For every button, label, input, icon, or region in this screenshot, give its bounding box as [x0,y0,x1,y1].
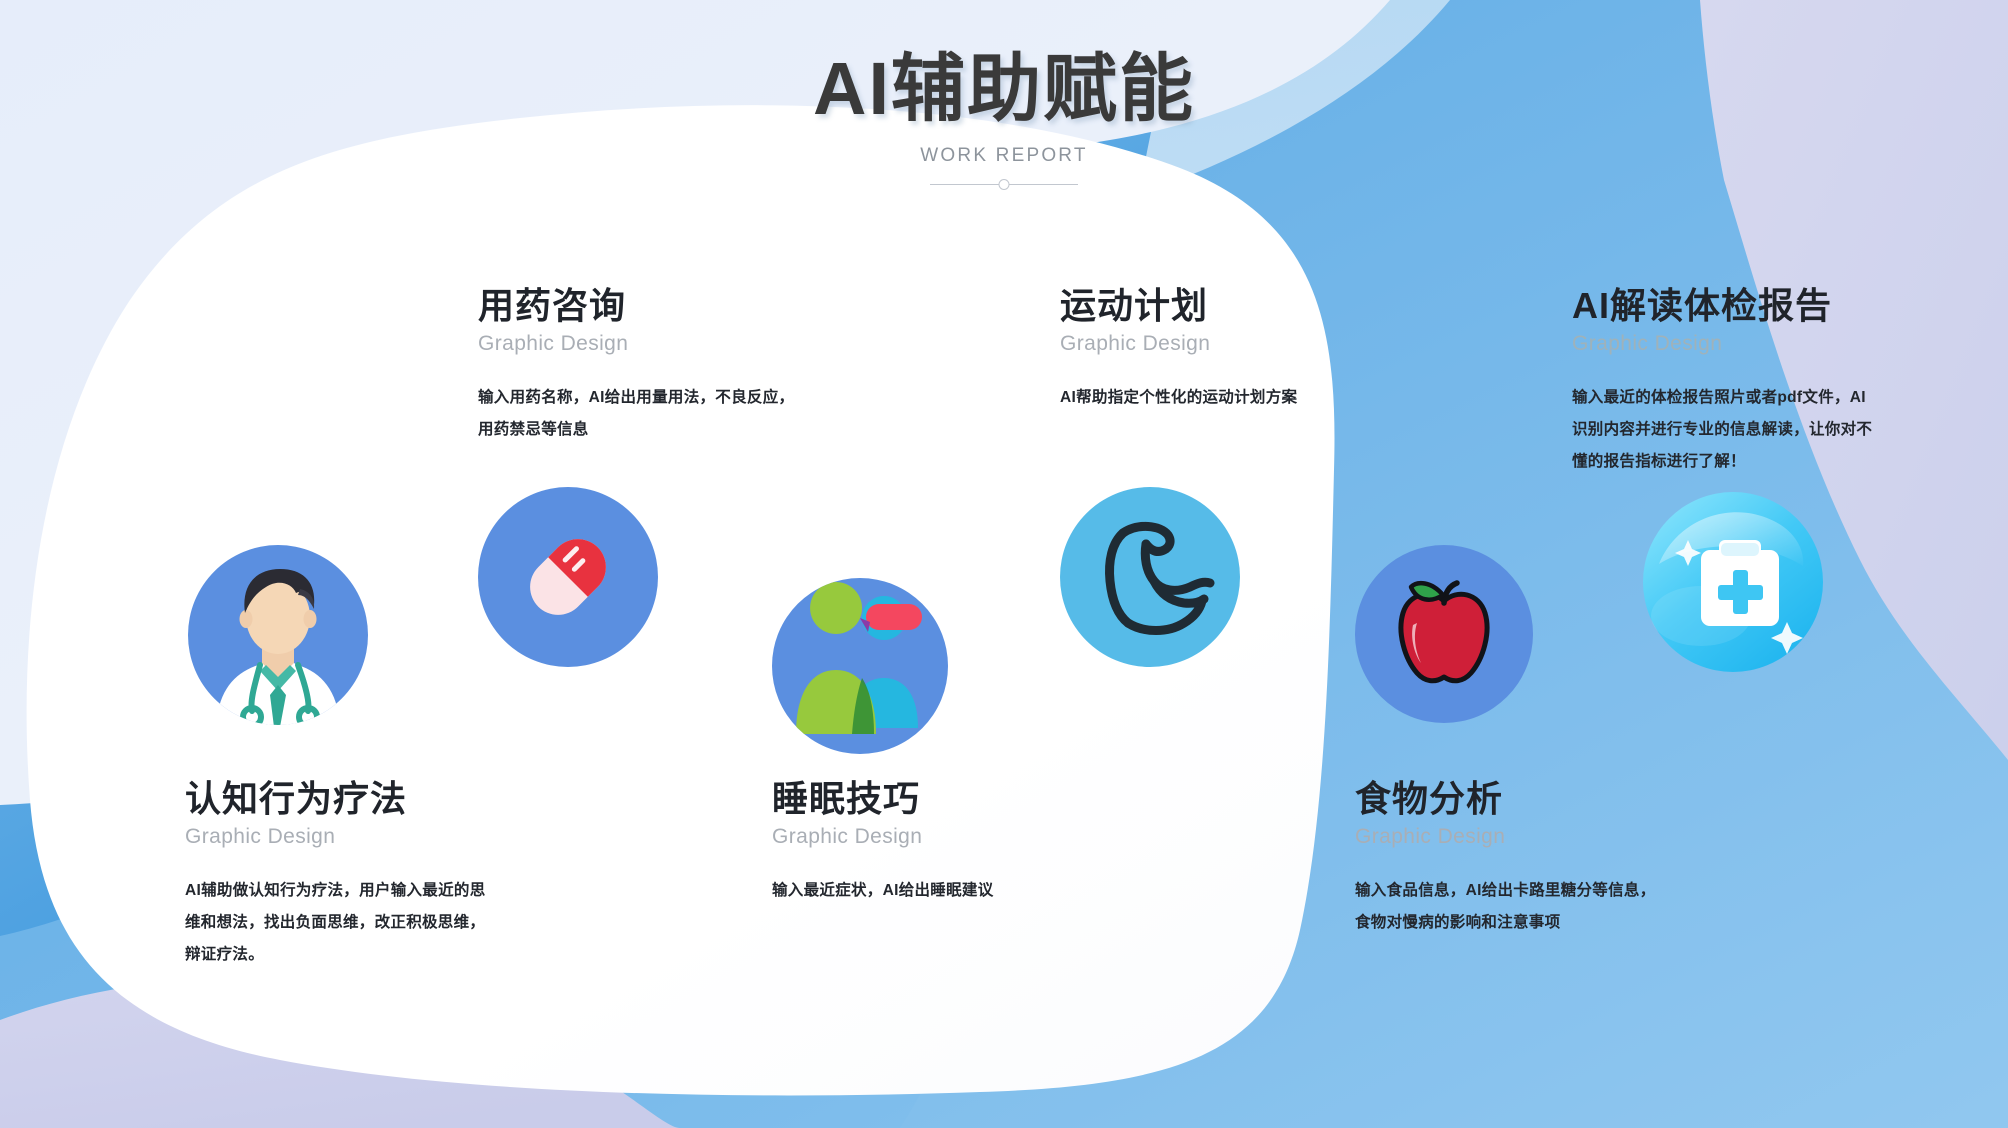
text-block-sleep-tips: 睡眠技巧 Graphic Design 输入最近症状，AI给出睡眠建议 [772,778,1102,907]
pill-icon[interactable] [478,487,658,667]
text-block-ai-health-report: AI解读体检报告 Graphic Design 输入最近的体检报告照片或者pdf… [1572,285,1912,478]
header-divider [930,179,1078,191]
page-title: AI辅助赋能 [0,48,2008,131]
desc-line: AI辅助做认知行为疗法，用户输入最近的思 [185,875,525,907]
slide-content: AI辅助赋能 WORK REPORT 用药咨询 Graphic Design 输… [0,0,2008,1128]
block-title: 睡眠技巧 [772,778,1102,819]
block-description: 输入食品信息，AI给出卡路里糖分等信息， 食物对慢病的影响和注意事项 [1355,875,1695,939]
page-subtitle: WORK REPORT [0,145,2008,167]
desc-line: 输入最近症状，AI给出睡眠建议 [772,875,1102,907]
desc-line: 识别内容并进行专业的信息解读，让你对不 [1572,414,1912,446]
block-description: 输入用药名称，AI给出用量用法，不良反应， 用药禁忌等信息 [478,382,818,446]
desc-line: AI帮助指定个性化的运动计划方案 [1060,382,1390,414]
block-subtitle: Graphic Design [185,825,525,849]
desc-line: 输入最近的体检报告照片或者pdf文件，AI [1572,382,1912,414]
block-title: 食物分析 [1355,778,1695,819]
text-block-medication-consult: 用药咨询 Graphic Design 输入用药名称，AI给出用量用法，不良反应… [478,285,818,446]
desc-line: 懂的报告指标进行了解！ [1572,446,1912,478]
block-subtitle: Graphic Design [478,332,818,356]
muscle-icon[interactable] [1060,487,1240,667]
desc-line: 维和想法，找出负面思维，改正积极思维， [185,907,525,939]
slide-header: AI辅助赋能 WORK REPORT [0,48,2008,191]
text-block-food-analysis: 食物分析 Graphic Design 输入食品信息，AI给出卡路里糖分等信息，… [1355,778,1695,939]
block-description: AI辅助做认知行为疗法，用户输入最近的思 维和想法，找出负面思维，改正积极思维，… [185,875,525,970]
medical-report-icon[interactable] [1643,492,1823,672]
desc-line: 辩证疗法。 [185,939,525,971]
people-chat-icon[interactable] [772,578,948,754]
desc-line: 输入食品信息，AI给出卡路里糖分等信息， [1355,875,1695,907]
block-description: AI帮助指定个性化的运动计划方案 [1060,382,1390,414]
block-description: 输入最近症状，AI给出睡眠建议 [772,875,1102,907]
apple-icon[interactable] [1355,545,1533,723]
desc-line: 输入用药名称，AI给出用量用法，不良反应， [478,382,818,414]
text-block-cbt-therapy: 认知行为疗法 Graphic Design AI辅助做认知行为疗法，用户输入最近… [185,778,525,971]
block-subtitle: Graphic Design [1572,332,1912,356]
block-subtitle: Graphic Design [1060,332,1390,356]
divider-knob-icon [999,179,1010,190]
block-title: 运动计划 [1060,285,1390,326]
text-block-exercise-plan: 运动计划 Graphic Design AI帮助指定个性化的运动计划方案 [1060,285,1390,414]
block-subtitle: Graphic Design [1355,825,1695,849]
block-description: 输入最近的体检报告照片或者pdf文件，AI 识别内容并进行专业的信息解读，让你对… [1572,382,1912,477]
doctor-icon[interactable] [188,545,368,725]
block-title: AI解读体检报告 [1572,285,1912,326]
block-title: 用药咨询 [478,285,818,326]
desc-line: 食物对慢病的影响和注意事项 [1355,907,1695,939]
desc-line: 用药禁忌等信息 [478,414,818,446]
block-subtitle: Graphic Design [772,825,1102,849]
block-title: 认知行为疗法 [185,778,525,819]
